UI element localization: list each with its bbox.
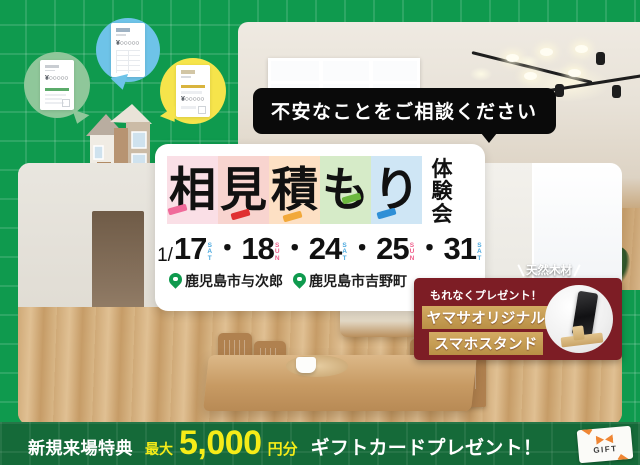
date-dow: SAT (207, 243, 212, 263)
benefit-text-group: 新規来場特典 最大 5,000 円分 ギフトカードプレゼント！ (0, 424, 542, 463)
date-dow: SAT (477, 243, 482, 263)
blue-estimate-bubble: ¥○○○○○ (96, 18, 160, 82)
benefit-unit: 円分 (268, 438, 298, 459)
spotlight-icon (555, 84, 564, 97)
yellow-estimate-bubble: ¥○○○○○ (160, 58, 226, 124)
title-char-3: 積 (269, 156, 320, 224)
title-char-glyph: 見 (220, 167, 267, 214)
downlight-icon (506, 54, 519, 62)
date-day: 25 (376, 231, 408, 267)
venue-list: 鹿児島市与次郎 鹿児島市吉野町 (169, 271, 407, 291)
estimate-document: ¥○○○○○ (40, 60, 74, 110)
estimate-amount: ¥○○○○○ (116, 40, 140, 47)
estimate-document: ¥○○○○○ (111, 23, 145, 77)
date-separator: ・ (282, 228, 308, 265)
consult-callout: 不安なことをご相談ください (253, 88, 556, 134)
event-dates: 1/ 17 SAT ・ 18 SUN ・ 24 SAT ・ 25 SUN ・ 3… (169, 228, 471, 267)
natural-wood-tag: 天然木材 (520, 262, 578, 278)
venue-label: 鹿児島市吉野町 (309, 271, 407, 291)
suffix-char: 体 (432, 158, 453, 180)
downlight-icon (540, 48, 553, 56)
promo-banner: ¥○○○○○ ¥○○○○○ (0, 0, 640, 465)
title-char-5: り (371, 156, 422, 224)
title-char-1: 相 (167, 156, 218, 224)
downlight-icon (524, 72, 537, 80)
natural-wood-label: 天然木材 (526, 262, 572, 278)
estimate-amount: ¥○○○○○ (45, 75, 69, 82)
wood-stand-lip (572, 325, 585, 340)
downlight-icon (568, 69, 581, 77)
cup (296, 357, 316, 373)
event-title-suffix: 体 験 会 (427, 156, 457, 225)
benefit-max: 最大 (145, 439, 173, 459)
ribbon-bow-icon (596, 434, 614, 444)
benefit-label: 新規来場特典 (28, 434, 133, 459)
benefit-amount: 5,000 (179, 424, 262, 463)
date-separator: ・ (214, 228, 240, 265)
date-dow: SAT (342, 243, 347, 263)
venue-item: 鹿児島市吉野町 (293, 271, 407, 291)
premium-gift-box: もれなくプレゼント！ ヤマサオリジナル スマホスタンド (414, 278, 622, 360)
gift-card-icon: GIFT (577, 426, 634, 464)
title-char-2: 見 (218, 156, 269, 224)
spotlight-icon (612, 85, 621, 98)
date-separator: ・ (417, 228, 443, 265)
venue-item: 鹿児島市与次郎 (169, 271, 283, 291)
benefit-gift-text: ギフトカードプレゼント！ (311, 433, 543, 460)
estimate-document: ¥○○○○○ (176, 65, 210, 117)
premium-line-1: ヤマサオリジナル (422, 306, 550, 329)
premium-text-group: もれなくプレゼント！ ヤマサオリジナル スマホスタンド (423, 287, 549, 355)
suffix-char: 会 (432, 203, 453, 225)
event-title: 相 見 積 も り 体 験 会 (167, 156, 457, 225)
venue-label: 鹿児島市与次郎 (185, 271, 283, 291)
estimate-amount: ¥○○○○○ (181, 96, 205, 103)
date-dow: SUN (275, 243, 280, 263)
date-day: 31 (444, 231, 476, 267)
title-char-glyph: 積 (271, 167, 318, 214)
gift-card-label: GIFT (593, 444, 618, 455)
date-day: 18 (241, 231, 273, 267)
title-char-4: も (320, 156, 371, 224)
date-dow: SUN (410, 243, 415, 263)
downlight-icon (575, 45, 588, 53)
date-day: 17 (174, 231, 206, 267)
premium-lead: もれなくプレゼント！ (430, 287, 542, 303)
premium-line-2: スマホスタンド (429, 332, 542, 355)
map-pin-icon (293, 273, 306, 290)
phone-stand-photo (545, 285, 613, 353)
suffix-char: 験 (432, 180, 453, 202)
date-month: 1/ (157, 245, 173, 267)
map-pin-icon (169, 273, 182, 290)
title-char-glyph: も (322, 167, 369, 214)
title-char-glyph: り (373, 167, 420, 214)
date-separator: ・ (349, 228, 375, 265)
bottom-benefit-banner: 新規来場特典 最大 5,000 円分 ギフトカードプレゼント！ GIFT (0, 422, 640, 465)
date-day: 24 (309, 231, 341, 267)
spotlight-icon (596, 52, 605, 65)
